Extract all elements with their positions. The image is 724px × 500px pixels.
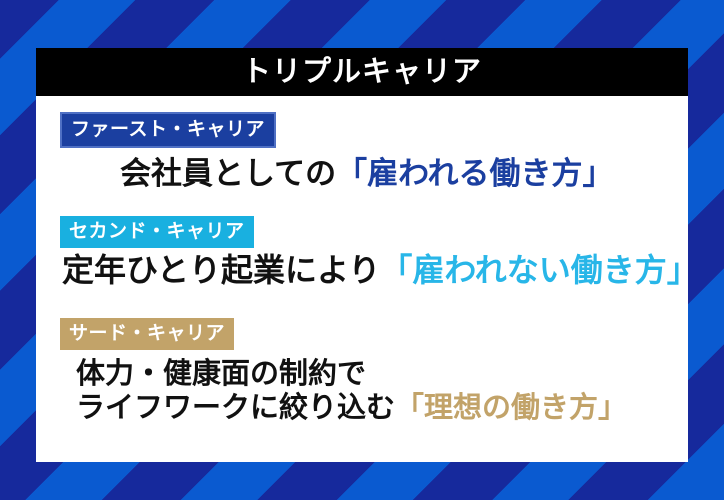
career-block-first: ファースト・キャリア 会社員としての「雇われる働き方」 — [36, 112, 688, 190]
badge-second-career: セカンド・キャリア — [60, 216, 254, 248]
slide-root: トリプルキャリア ファースト・キャリア 会社員としての「雇われる働き方」 セカン… — [0, 0, 724, 500]
title-bar: トリプルキャリア — [36, 48, 688, 96]
career-first-plain-text: 会社員としての — [120, 156, 336, 191]
content-panel: ファースト・キャリア 会社員としての「雇われる働き方」 セカンド・キャリア 定年… — [36, 96, 688, 462]
career-first-highlight-text: 「雇われる働き方」 — [336, 156, 613, 191]
career-block-third: サード・キャリア 体力・健康面の制約で ライフワークに絞り込む「理想の働き方」 — [36, 318, 688, 425]
career-block-second: セカンド・キャリア 定年ひとり起業により「雇われない働き方」 — [36, 216, 688, 288]
career-third-plain-text: ライフワークに絞り込む — [76, 392, 395, 424]
badge-third-career: サード・キャリア — [60, 318, 234, 350]
career-second-plain-text: 定年ひとり起業により — [62, 252, 380, 288]
career-third-highlight-text: 「理想の働き方」 — [395, 392, 627, 424]
career-third-description-line-1: 体力・健康面の制約で — [76, 359, 688, 390]
page-title: トリプルキャリア — [242, 58, 482, 87]
career-second-description: 定年ひとり起業により「雇われない働き方」 — [62, 253, 688, 288]
career-first-description: 会社員としての「雇われる働き方」 — [120, 157, 688, 190]
career-second-highlight-text: 「雇われない働き方」 — [380, 252, 698, 288]
career-third-description-line-2: ライフワークに絞り込む「理想の働き方」 — [76, 393, 688, 424]
badge-first-career: ファースト・キャリア — [60, 112, 276, 148]
